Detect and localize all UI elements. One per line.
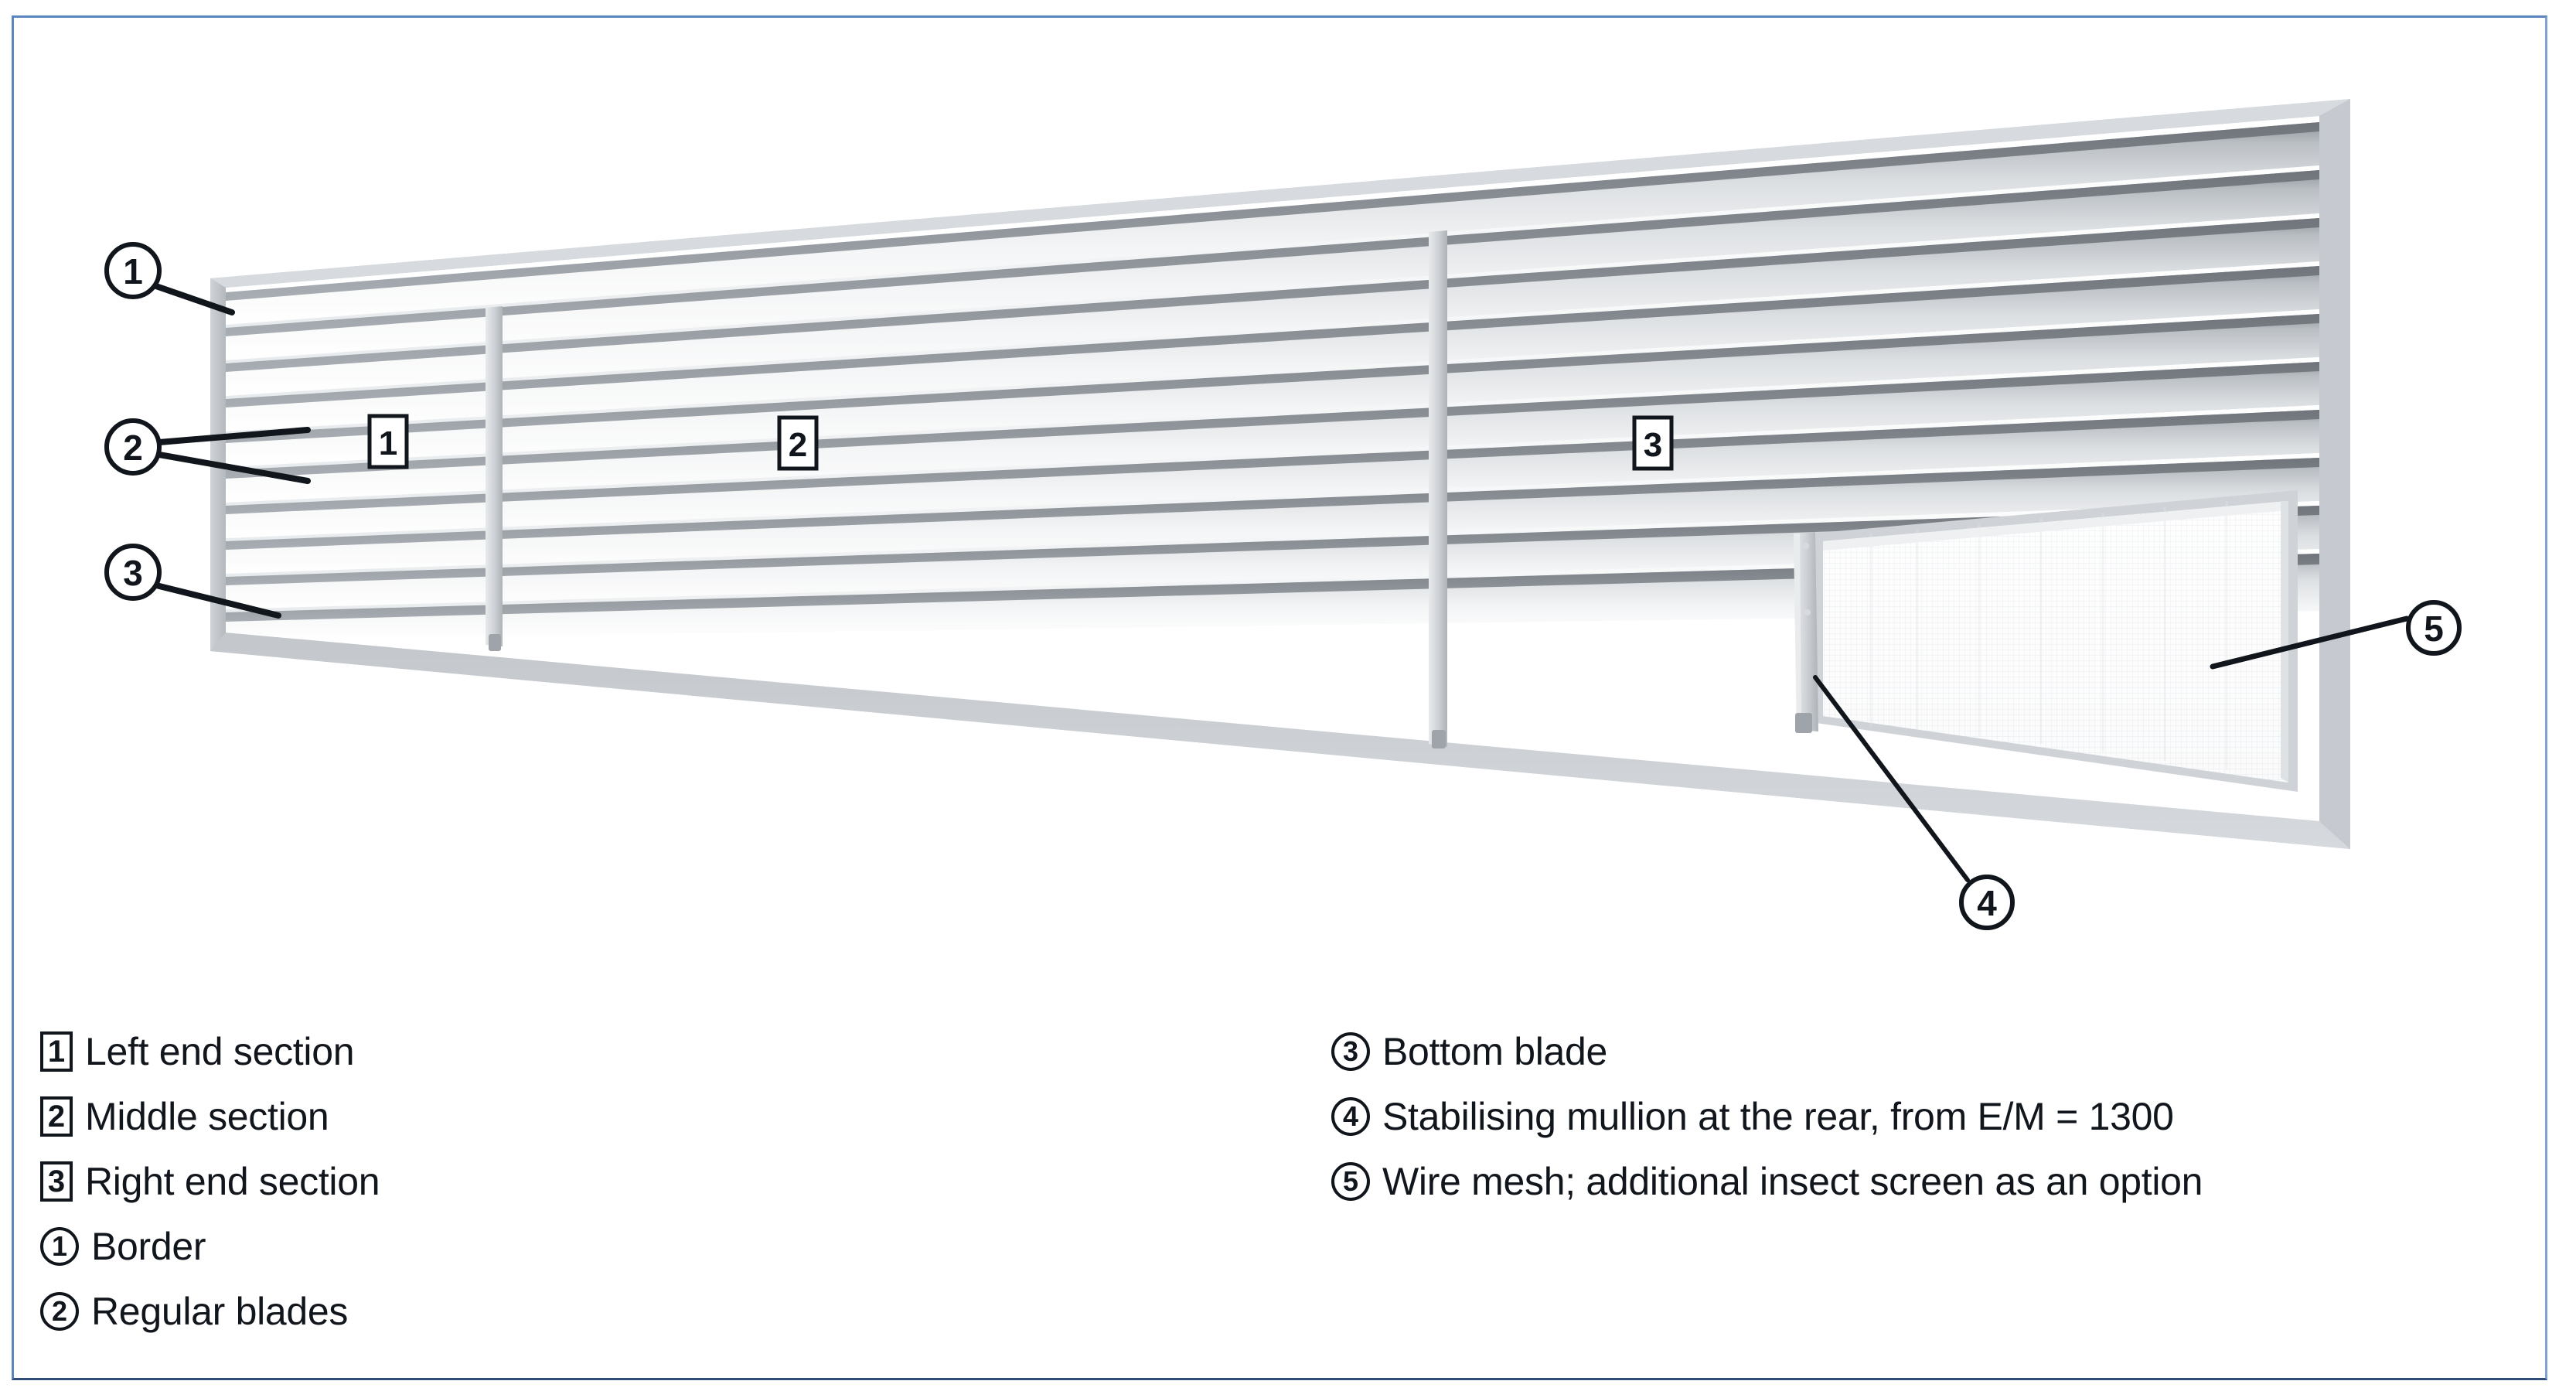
legend-marker-circle-1: 1 [40, 1227, 79, 1266]
callout-3-label: 3 [123, 553, 143, 593]
legend-marker-box-2: 2 [40, 1096, 73, 1137]
legend-label-border: Border [91, 1224, 206, 1269]
legend-marker-circle-3: 3 [1331, 1032, 1370, 1071]
mullion-divider-right [1429, 230, 1447, 748]
callout-5-label: 5 [2424, 609, 2444, 649]
stabilising-mullion [1794, 532, 1818, 733]
grille-illustration: 1 2 3 1 2 3 [0, 0, 2576, 1005]
legend-column-right: 3 Bottom blade 4 Stabilising mullion at … [1331, 1019, 2537, 1214]
legend-marker-circle-4: 4 [1331, 1097, 1370, 1136]
section-marker-2-label: 2 [789, 426, 807, 464]
callout-bubble-5: 5 [2408, 602, 2459, 653]
callout-bubble-1: 1 [107, 244, 159, 297]
mullion-divider-left [486, 306, 503, 651]
legend-item: 4 Stabilising mullion at the rear, from … [1331, 1084, 2537, 1149]
section-marker-1-label: 1 [379, 425, 397, 462]
legend: 1 Left end section 2 Middle section 3 Ri… [0, 1019, 2576, 1383]
page-root: 1 2 3 1 2 3 [0, 0, 2576, 1398]
section-marker-2: 2 [779, 418, 816, 469]
legend-item: 3 Right end section [40, 1149, 1277, 1214]
legend-marker-circle-2: 2 [40, 1292, 79, 1331]
callout-bubble-3: 3 [107, 546, 159, 598]
callout-bubble-4: 4 [1961, 877, 2012, 928]
legend-label-right-end-section: Right end section [85, 1159, 380, 1204]
callout-2-label: 2 [123, 428, 143, 468]
callout-bubble-2: 2 [107, 421, 159, 473]
legend-marker-box-3: 3 [40, 1161, 73, 1202]
section-marker-1: 1 [370, 416, 407, 467]
legend-label-middle-section: Middle section [85, 1094, 329, 1139]
legend-item: 3 Bottom blade [1331, 1019, 2537, 1084]
legend-item: 2 Regular blades [40, 1279, 1277, 1344]
legend-item: 1 Border [40, 1214, 1277, 1279]
callout-1-label: 1 [123, 251, 143, 292]
legend-item: 1 Left end section [40, 1019, 1277, 1084]
legend-column-left: 1 Left end section 2 Middle section 3 Ri… [40, 1019, 1277, 1344]
frame-right-stile [2319, 99, 2350, 849]
legend-label-regular-blades: Regular blades [91, 1289, 348, 1334]
legend-item: 5 Wire mesh; additional insect screen as… [1331, 1149, 2537, 1214]
legend-marker-box-1: 1 [40, 1031, 73, 1072]
legend-label-stabilising-mullion: Stabilising mullion at the rear, from E/… [1382, 1094, 2174, 1139]
legend-label-left-end-section: Left end section [85, 1029, 354, 1074]
section-marker-3: 3 [1634, 418, 1671, 469]
legend-label-bottom-blade: Bottom blade [1382, 1029, 1607, 1074]
callout-4-label: 4 [1977, 883, 1997, 923]
legend-label-wire-mesh: Wire mesh; additional insect screen as a… [1382, 1159, 2203, 1204]
legend-marker-circle-5: 5 [1331, 1162, 1370, 1201]
section-marker-3-label: 3 [1644, 426, 1662, 464]
legend-item: 2 Middle section [40, 1084, 1277, 1149]
